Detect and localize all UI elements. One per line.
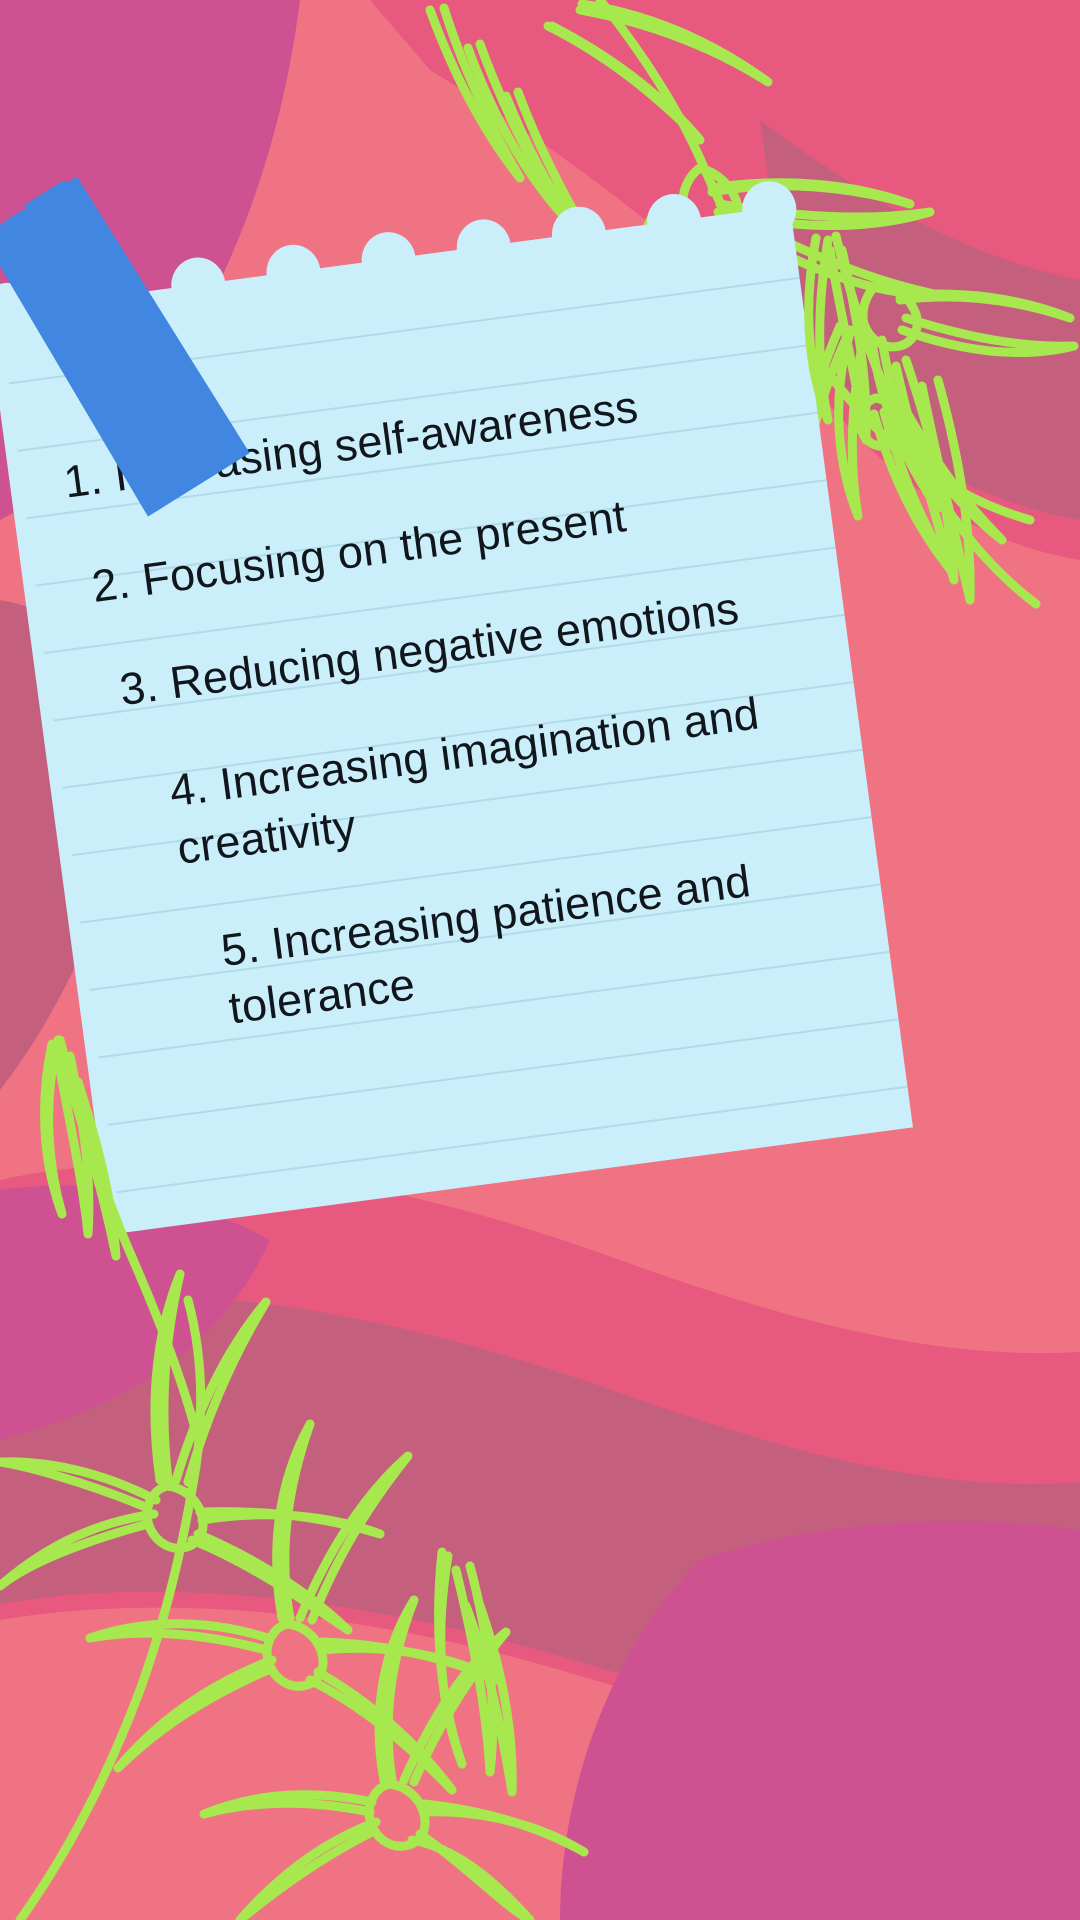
leaf-blade	[90, 1624, 268, 1650]
leaf-blade	[0, 1514, 154, 1586]
leaf-node	[267, 1624, 323, 1686]
leaf-sprig-bottom-left	[0, 0, 1080, 1920]
leaf-blade	[240, 1822, 376, 1920]
leaf-stem-main	[20, 1300, 201, 1920]
leaf-blade	[412, 1834, 530, 1920]
leaf-blade	[424, 1804, 584, 1852]
leaf-stem	[60, 1040, 196, 1432]
leaf-blade	[176, 1302, 266, 1482]
poster-canvas: 1. Increasing self-awareness 2. Focusing…	[0, 0, 1080, 1920]
leaf-blade	[204, 1795, 372, 1814]
leaf-blade	[0, 1462, 156, 1508]
leaf-blade	[300, 1456, 408, 1620]
